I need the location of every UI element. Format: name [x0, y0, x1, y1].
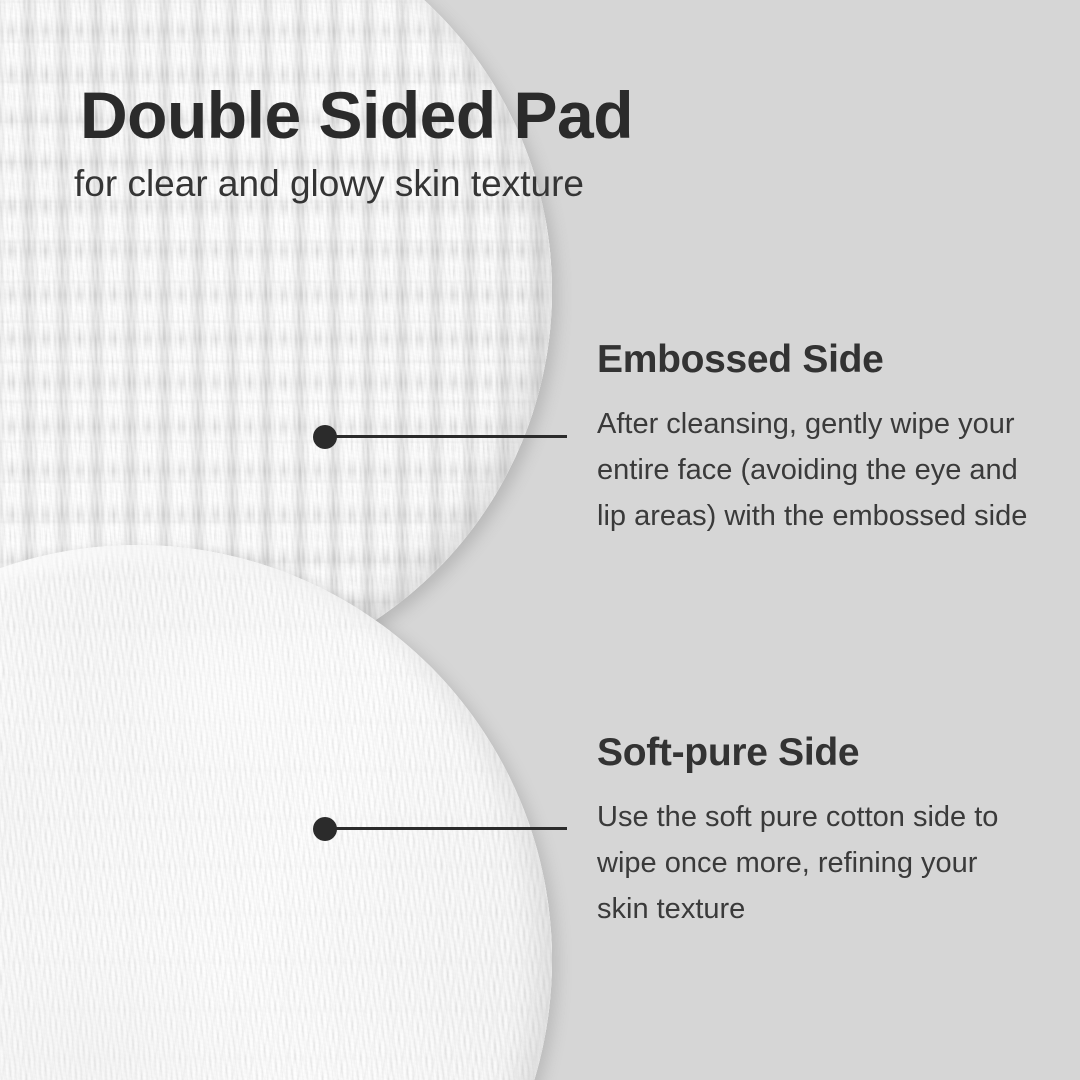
product-infographic: Double Sided Pad for clear and glowy ski…	[0, 0, 1080, 1080]
page-subtitle: for clear and glowy skin texture	[74, 164, 780, 205]
leader-soft-pure	[313, 816, 567, 842]
headline-block: Double Sided Pad for clear and glowy ski…	[80, 82, 780, 205]
leader-embossed	[313, 424, 567, 450]
callout-heading-embossed: Embossed Side	[597, 340, 1037, 379]
callout-soft-pure: Soft-pure Side Use the soft pure cotton …	[597, 733, 1037, 932]
callout-embossed: Embossed Side After cleansing, gently wi…	[597, 340, 1037, 539]
leader-line	[331, 435, 567, 438]
leader-line	[331, 827, 567, 830]
soft-pure-pad-image	[0, 545, 552, 1080]
callout-body-soft-pure: Use the soft pure cotton side to wipe on…	[597, 794, 1037, 932]
page-title: Double Sided Pad	[80, 82, 780, 148]
callout-heading-soft-pure: Soft-pure Side	[597, 733, 1037, 772]
callout-body-embossed: After cleansing, gently wipe your entire…	[597, 401, 1037, 539]
